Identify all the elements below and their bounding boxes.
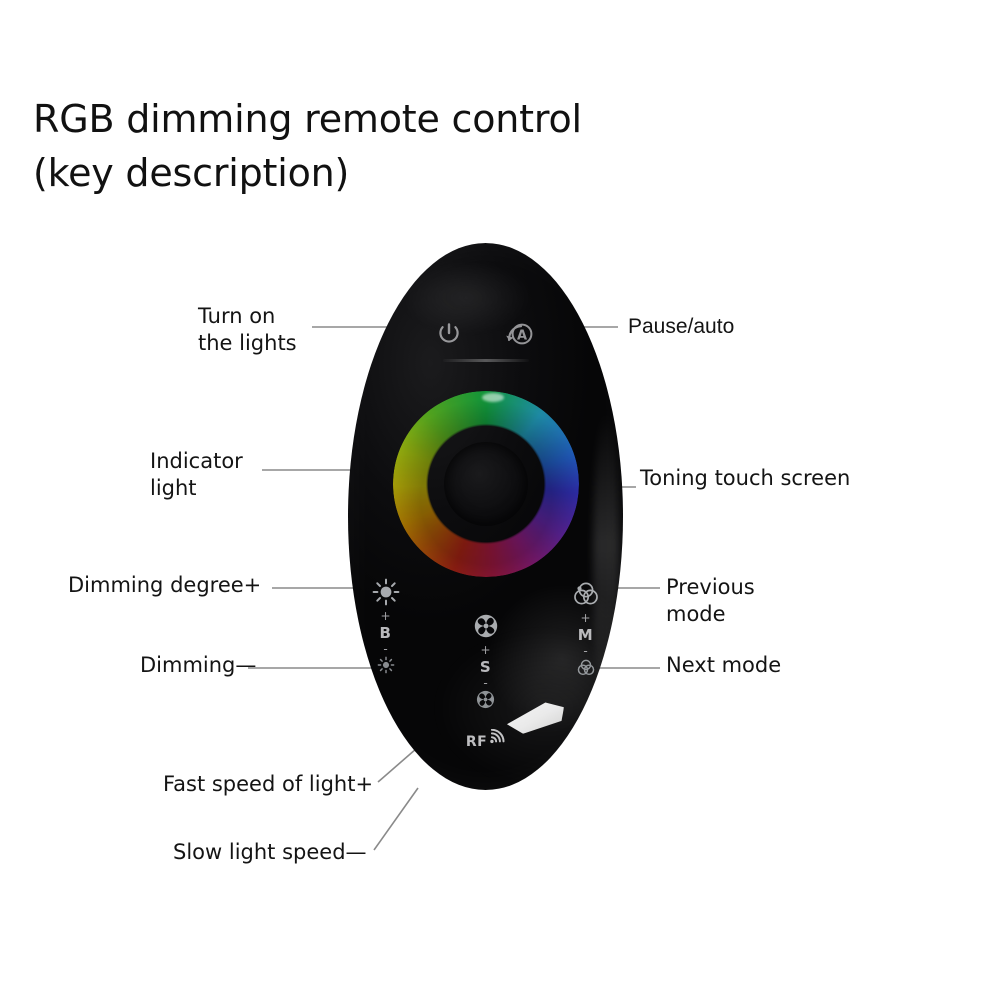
callout-next-mode: Next mode: [666, 652, 781, 679]
pinwheel-slow-icon[interactable]: [474, 688, 497, 716]
rf-label: RF: [466, 735, 487, 749]
rgb-venn-icon[interactable]: [570, 577, 602, 614]
callout-dimming-down: Dimming—: [140, 652, 256, 679]
callout-fast-speed-of-light: Fast speed of light+: [163, 771, 373, 798]
rf-logo: RF: [466, 729, 505, 749]
color-wheel-hub[interactable]: [444, 442, 528, 526]
speed-column: + S -: [458, 611, 514, 716]
sun-dim-icon[interactable]: [375, 654, 397, 681]
callout-dimming-degree-up: Dimming degree+: [68, 572, 261, 599]
auto-a-circle-icon[interactable]: A: [502, 319, 538, 354]
button-grid: + B -: [348, 577, 623, 716]
mode-minus-sign[interactable]: -: [583, 647, 587, 656]
speed-minus-sign[interactable]: -: [483, 679, 487, 688]
power-icon[interactable]: [434, 319, 464, 354]
brightness-plus-sign[interactable]: +: [380, 612, 390, 621]
remote-control-device[interactable]: A: [348, 243, 623, 790]
pinwheel-fast-icon[interactable]: [471, 611, 501, 646]
top-button-row: A: [348, 319, 623, 354]
speed-letter: S: [480, 658, 491, 676]
sun-bright-icon[interactable]: [371, 577, 401, 612]
rgb-venn-small-icon[interactable]: [575, 656, 597, 683]
mode-letter: M: [578, 626, 593, 644]
diagram-canvas: RGB dimming remote control (key descript…: [0, 0, 1000, 1000]
speed-plus-sign[interactable]: +: [480, 646, 490, 655]
rf-signal-icon: [489, 729, 505, 749]
page-title: RGB dimming remote control (key descript…: [33, 92, 753, 200]
callout-slow-light-speed: Slow light speed—: [173, 839, 367, 866]
mode-column: + M -: [558, 577, 614, 716]
callout-indicator-light: Indicator light: [150, 448, 243, 502]
callout-previous-mode: Previous mode: [666, 574, 755, 628]
callout-toning-touch-screen: Toning touch screen: [640, 465, 850, 492]
svg-text:A: A: [516, 329, 526, 344]
leader-slow-speed: [374, 788, 418, 850]
callout-pause-auto: Pause/auto: [628, 313, 734, 340]
brightness-minus-sign[interactable]: -: [383, 645, 387, 654]
callout-turn-on-the-lights: Turn on the lights: [198, 303, 297, 357]
toning-touch-screen[interactable]: [393, 391, 579, 577]
indicator-light: [443, 359, 529, 362]
brightness-column: + B -: [358, 577, 414, 716]
brightness-letter: B: [380, 624, 392, 642]
mode-plus-sign[interactable]: +: [580, 614, 590, 623]
